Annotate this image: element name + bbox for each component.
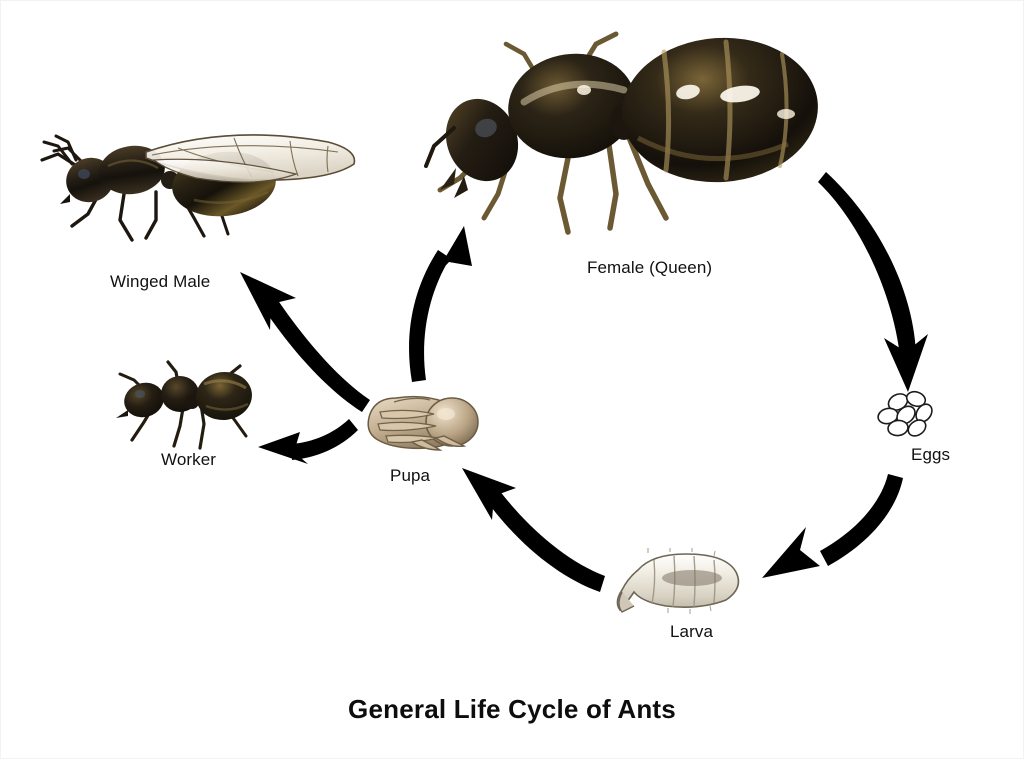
arrow-queen-to-eggs — [818, 172, 928, 392]
label-queen: Female (Queen) — [587, 258, 712, 278]
winged-male-ant-icon — [28, 108, 368, 248]
worker-ant-icon — [104, 352, 264, 456]
life-cycle-diagram: Winged Male — [0, 0, 1024, 759]
arrow-eggs-to-larva — [762, 474, 903, 578]
larva-icon — [608, 548, 748, 620]
label-eggs: Eggs — [911, 445, 950, 465]
label-larva: Larva — [670, 622, 713, 642]
label-worker: Worker — [161, 450, 216, 470]
arrow-pupa-to-queen — [409, 226, 472, 382]
eggs-cluster-icon — [872, 386, 948, 442]
arrow-pupa-to-worker — [258, 419, 358, 464]
pupa-icon — [352, 388, 492, 460]
page-title: General Life Cycle of Ants — [0, 694, 1024, 725]
label-winged-male: Winged Male — [110, 272, 210, 292]
queen-ant-icon — [420, 18, 830, 248]
arrow-larva-to-pupa — [462, 468, 605, 592]
label-pupa: Pupa — [390, 466, 430, 486]
